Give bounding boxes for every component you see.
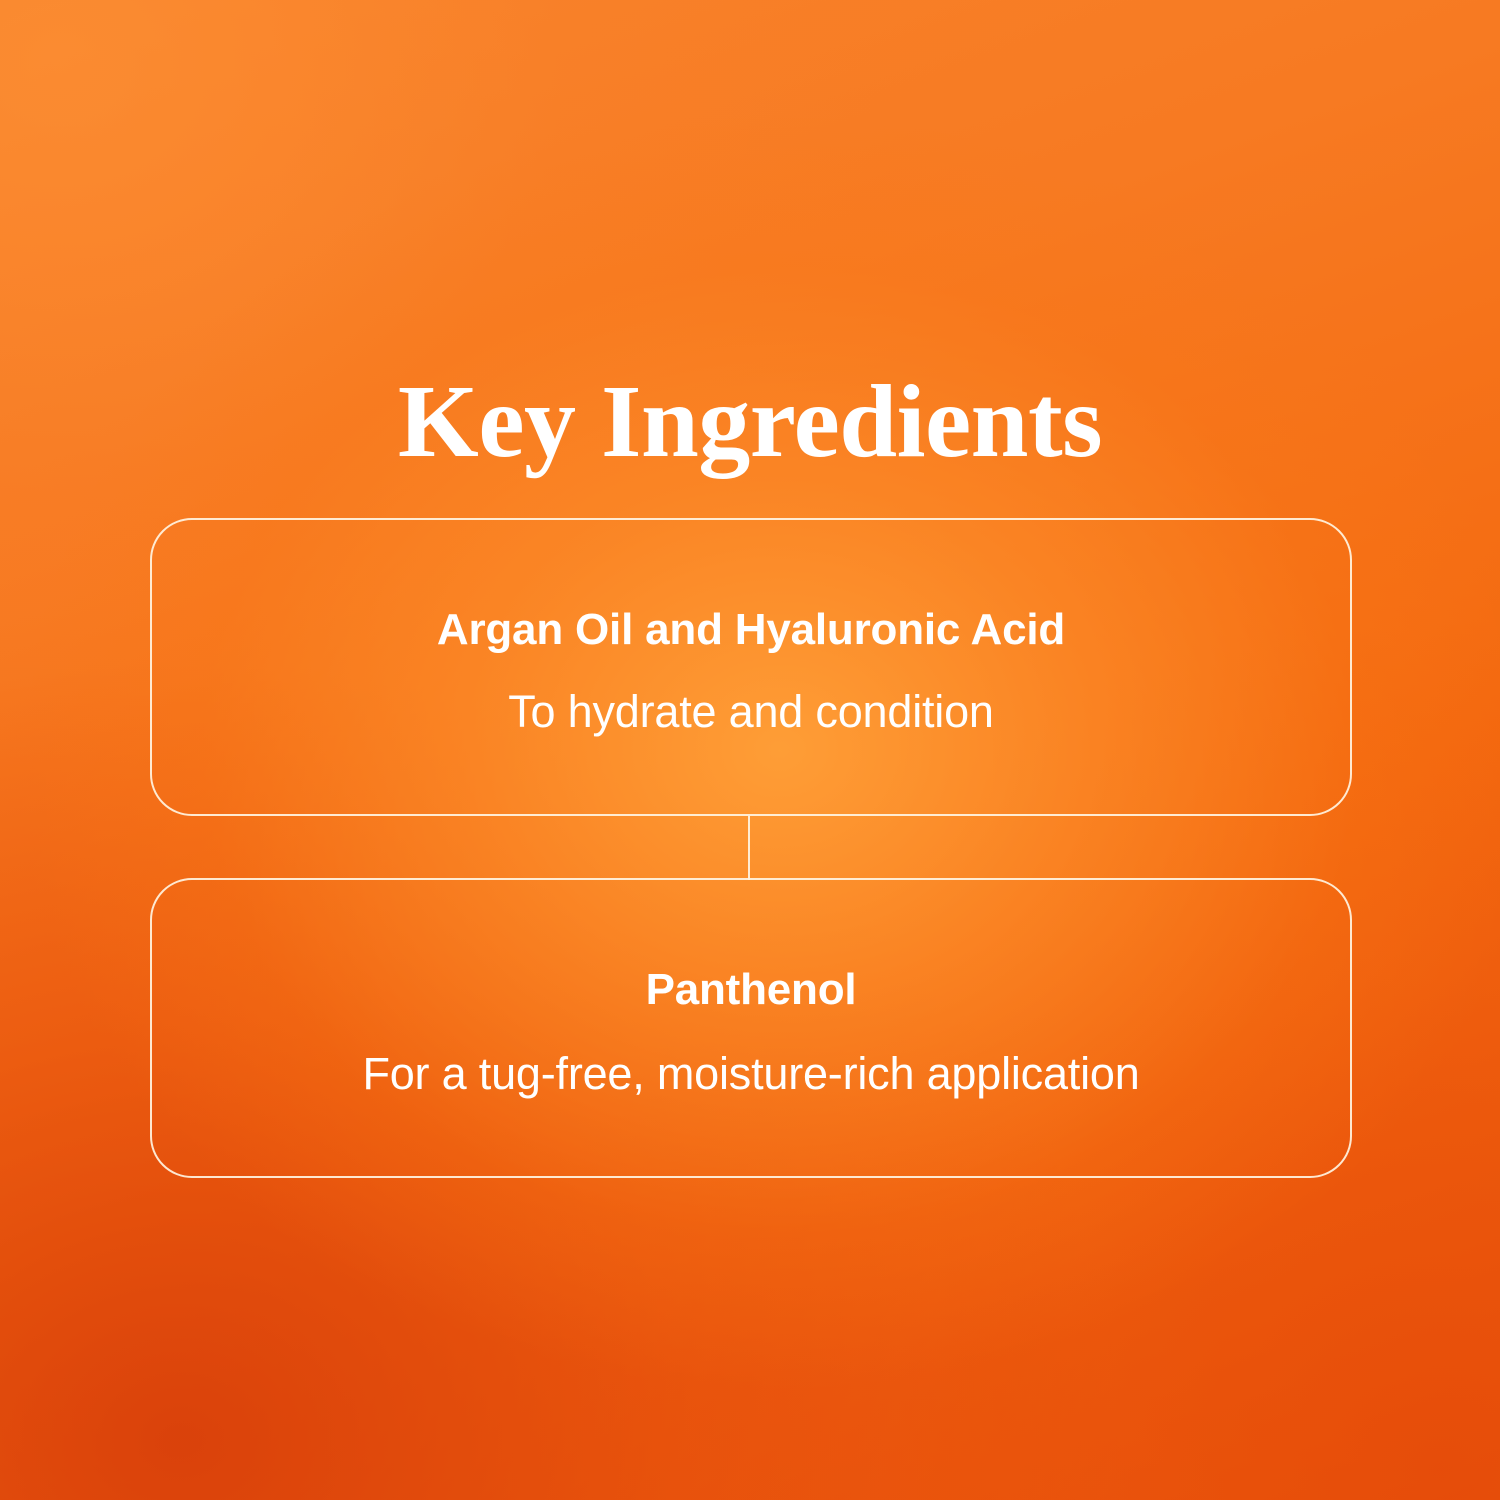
ingredient-card-panthenol: Panthenol For a tug-free, moisture-rich …	[150, 878, 1352, 1178]
page-title: Key Ingredients	[0, 366, 1500, 478]
ingredient-card-subtext: For a tug-free, moisture-rich applicatio…	[152, 1048, 1350, 1100]
card-connector-line	[748, 816, 750, 880]
key-ingredients-panel: Key Ingredients Argan Oil and Hyaluronic…	[0, 0, 1500, 1500]
ingredient-card-subtext: To hydrate and condition	[152, 686, 1350, 738]
card-content: Argan Oil and Hyaluronic Acid To hydrate…	[152, 606, 1350, 738]
ingredient-card-argan-oil-hyaluronic-acid: Argan Oil and Hyaluronic Acid To hydrate…	[150, 518, 1352, 816]
card-content: Panthenol For a tug-free, moisture-rich …	[152, 966, 1350, 1100]
ingredient-card-heading: Argan Oil and Hyaluronic Acid	[152, 606, 1350, 654]
ingredient-card-heading: Panthenol	[152, 966, 1350, 1014]
